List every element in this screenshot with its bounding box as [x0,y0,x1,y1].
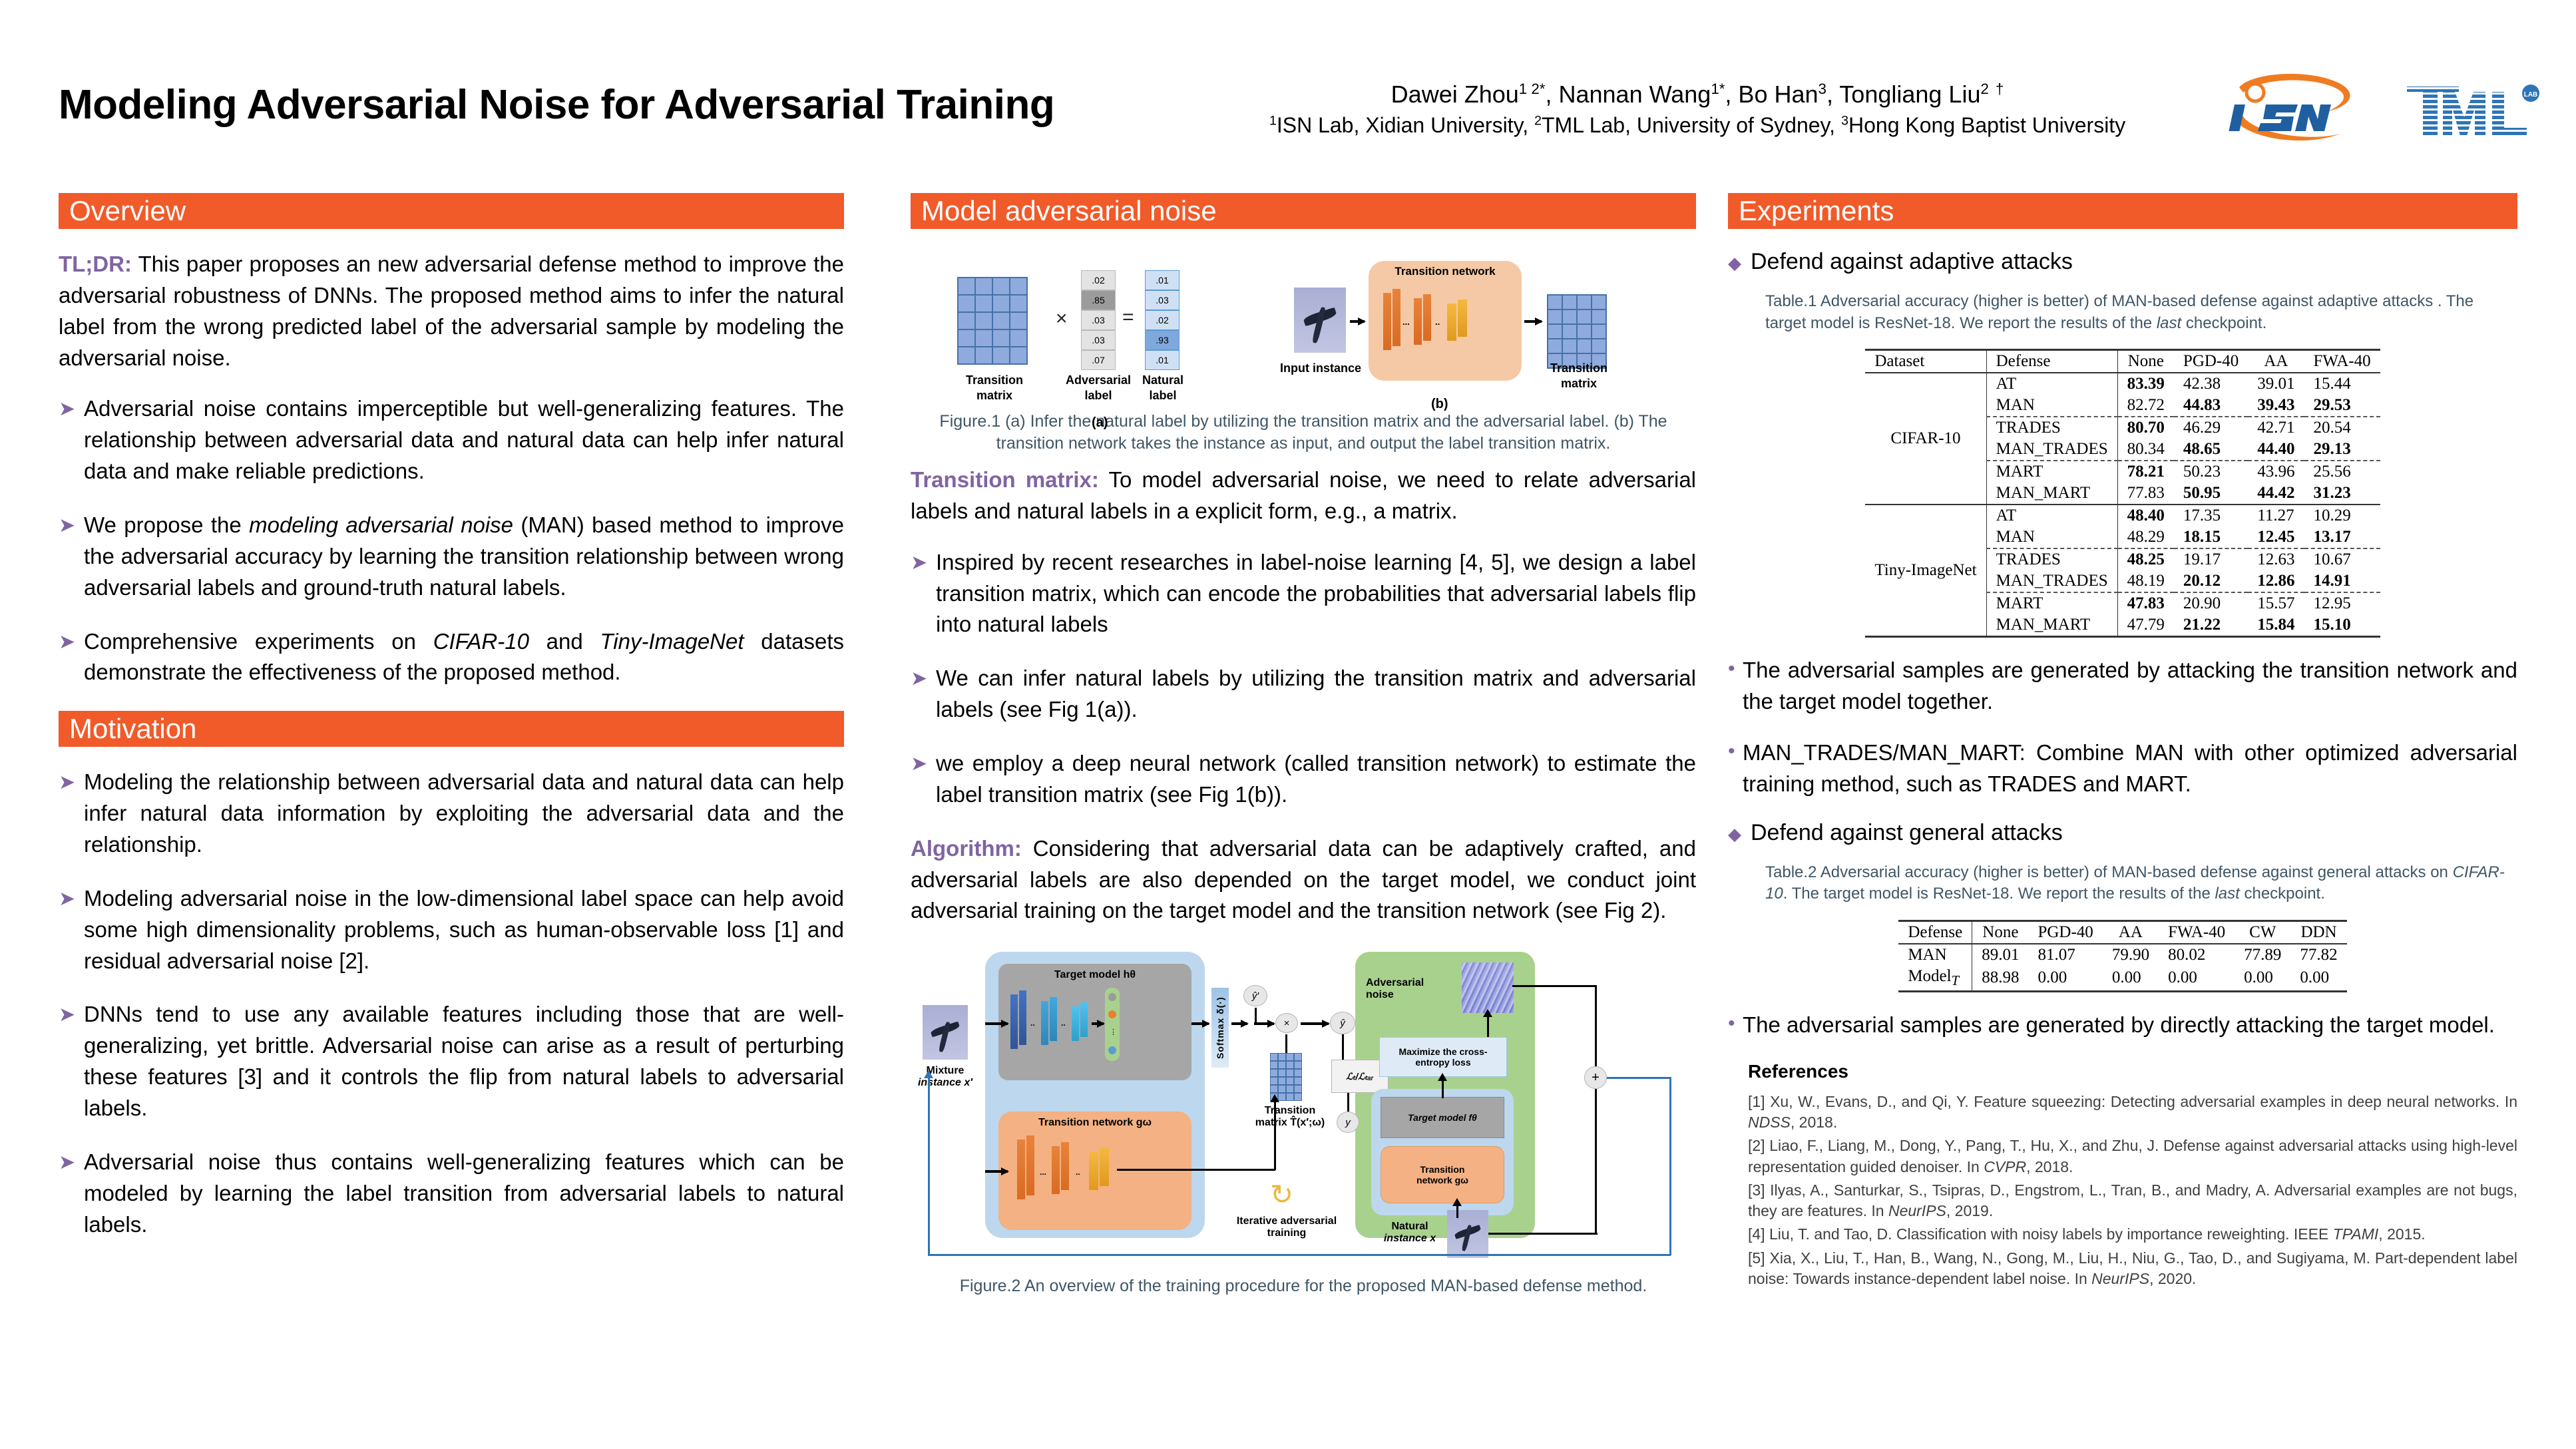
overview-bullet-1: Adversarial noise contains imperceptible… [84,393,844,487]
fig2-arrow-to-output-icon [1092,1022,1104,1025]
figure-1: × .02 .85 .03 .03 .07 = .01 .03 .02 .93 … [911,249,1696,405]
fig2-maximize-loss-box: Maximize the cross-entropy loss [1379,1037,1507,1077]
fig2-target-model-label: Target model hθ [1012,969,1178,981]
fig2-arrow-to-multiply-icon [1254,1022,1274,1025]
model-bullet-2: We can infer natural labels by utilizing… [936,663,1696,725]
note-adaptive-1: The adversarial samples are generated by… [1743,655,2517,718]
fig1-adversarial-label-vector: .02 .85 .03 .03 .07 [1081,270,1116,370]
fig1-adv-cell: .02 [1081,270,1116,290]
fig1-transition-network-title: Transition network [1370,265,1520,278]
fig2-transition-network-label: Transition network gω [1005,1117,1185,1129]
fig2-arrow-from-softmax-icon [1231,1022,1247,1025]
fig2-arrow-to-softmax-icon [1191,1022,1209,1025]
svg-text:LAB: LAB [2524,91,2538,99]
fig2-iterative-label: Iterative adversarialtraining [1223,1215,1350,1239]
overview-bullet-3: Comprehensive experiments on CIFAR-10 an… [84,626,844,689]
table-2-caption: Table.2 Adversarial accuracy (higher is … [1765,862,2517,905]
note-general-1: The adversarial samples are generated by… [1743,1010,2517,1041]
list-item: ➤ we employ a deep neural network (calle… [911,748,1696,811]
fig1-arrow-in-icon [1350,320,1365,323]
fig1-nat-cell: .02 [1145,310,1180,330]
author-block: Dawei Zhou1 2*, Nannan Wang1*, Bo Han3, … [1225,79,2170,140]
fig1-adv-cell: .03 [1081,310,1116,330]
arrow-bullet-icon: ➤ [911,547,936,641]
fig1-adv-cell: .03 [1081,330,1116,350]
fig2-softmax-bar: Softmax δ(·) [1211,988,1229,1068]
reference-item: [3] Ilyas, A., Santurkar, S., Tsipras, D… [1748,1180,2517,1222]
section-header-experiments: Experiments [1728,193,2517,229]
affiliations-line: 1ISN Lab, Xidian University, 2TML Lab, U… [1225,111,2170,140]
model-bullet-1: Inspired by recent researches in label-n… [936,547,1696,641]
t2-col-fwa40: FWA-40 [2159,921,2235,944]
table-row: MAN 89.01 81.07 79.90 80.02 77.89 77.82 [1898,944,2346,966]
tldr-text: This paper proposes an new adversarial d… [59,252,844,370]
fig1-nat-cell: .03 [1145,290,1180,310]
t1-dataset-tiny-imagenet: Tiny-ImageNet [1865,505,1986,637]
table-1-caption: Table.1 Adversarial accuracy (higher is … [1765,291,2517,334]
fig1-output-transition-matrix [1547,294,1607,369]
figure-1-caption: Figure.1 (a) Infer the natural label by … [911,411,1696,454]
list-item: ➤ DNNs tend to use any available feature… [59,999,844,1124]
fig1-nat-cell: .93 [1145,330,1180,350]
t1-col-defense: Defense [1986,350,2117,373]
fig1-output-matrix-label: Transitionmatrix [1536,361,1621,391]
fig1-input-instance-label: Input instance [1278,361,1363,376]
dot-bullet-icon: • [1728,737,1743,800]
reference-item: [4] Liu, T. and Tao, D. Classification w… [1748,1224,2517,1245]
list-item: ➤ Modeling adversarial noise in the low-… [59,883,844,977]
fig1-sublabel-b: (b) [1431,397,1448,412]
list-item: ➤ Adversarial noise contains imperceptib… [59,393,844,487]
arrow-bullet-icon: ➤ [59,767,84,861]
subheading-adaptive-attacks: ◆ Defend against adaptive attacks [1728,249,2517,275]
transition-matrix-paragraph: Transition matrix: To model adversarial … [911,465,1696,527]
t1-col-dataset: Dataset [1865,350,1986,373]
dot-bullet-icon: • [1728,1010,1743,1041]
list-item: ➤ Comprehensive experiments on CIFAR-10 … [59,626,844,689]
section-header-motivation: Motivation [59,711,844,747]
dot-bullet-icon: • [1728,655,1743,718]
arrow-bullet-icon: ➤ [59,883,84,977]
algorithm-label: Algorithm: [911,836,1022,861]
fig2-adversarial-noise-label: Adversarialnoise [1366,977,1438,1001]
isn-lab-logo [2229,70,2362,150]
fig1-label-adversarial: Adversariallabel [1061,373,1136,403]
section-header-model: Model adversarial noise [911,193,1696,229]
t2-col-cw: CW [2235,921,2290,944]
t2-col-pgd40: PGD-40 [2028,921,2102,944]
page-title: Modeling Adversarial Noise for Adversari… [59,81,1054,128]
arrow-bullet-icon: ➤ [59,393,84,487]
list-item: • The adversarial samples are generated … [1728,655,2517,718]
t2-col-defense: Defense [1898,921,1972,944]
reference-item: [5] Xia, X., Liu, T., Han, B., Wang, N.,… [1748,1248,2517,1290]
fig1-panel-b: Transition network ... .. Input instance [1270,256,1643,395]
fig2-adversarial-noise-image [1462,962,1514,1013]
fig1-adv-cell: .85 [1081,290,1116,310]
t1-col-fwa40: FWA-40 [2304,350,2380,373]
motivation-bullet-2: Modeling adversarial noise in the low-di… [84,883,844,977]
model-bullet-3: we employ a deep neural network (called … [936,748,1696,811]
motivation-bullet-1: Modeling the relationship between advers… [84,767,844,861]
list-item: ➤ Adversarial noise thus contains well-g… [59,1147,844,1241]
fig2-mixture-instance-image [923,1005,968,1060]
table-row: ModelT 88.98 0.00 0.00 0.00 0.00 0.00 [1898,966,2346,992]
fig2-node-multiply: × [1275,1013,1298,1033]
fig2-iterative-loop-icon: ↻ [1270,1181,1293,1209]
fig1-multiply-icon: × [1056,308,1068,330]
subheading-general-attacks: ◆ Defend against general attacks [1728,820,2517,846]
arrow-bullet-icon: ➤ [911,663,936,725]
t2-col-ddn: DDN [2290,921,2346,944]
list-item: ➤ Inspired by recent researches in label… [911,547,1696,641]
motivation-bullet-3: DNNs tend to use any available features … [84,999,844,1124]
t1-col-aa: AA [2248,350,2304,373]
fig1-input-instance-image [1294,288,1346,353]
algorithm-paragraph: Algorithm: Considering that adversarial … [911,833,1696,927]
fig1-label-transition-matrix: Transitionmatrix [941,373,1048,403]
t2-col-none: None [1972,921,2029,944]
list-item: • The adversarial samples are generated … [1728,1010,2517,1041]
list-item: ➤ We propose the modeling adversarial no… [59,510,844,604]
fig2-mixture-instance-label: Mixtureinstance x′ [912,1065,978,1089]
fig1-arrow-out-icon [1524,320,1542,323]
tldr-paragraph: TL;DR: This paper proposes an new advers… [59,249,844,373]
overview-bullet-2: We propose the modeling adversarial nois… [84,510,844,604]
note-adaptive-2: MAN_TRADES/MAN_MART: Combine MAN with ot… [1743,737,2517,800]
references-heading: References [1748,1061,2517,1082]
section-header-overview: Overview [59,193,844,229]
diamond-bullet-icon: ◆ [1728,249,1751,274]
arrow-bullet-icon: ➤ [59,1147,84,1241]
fig1-natural-label-vector: .01 .03 .02 .93 .01 [1145,270,1180,370]
fig2-arrow-in-top-icon [985,1022,1008,1025]
fig2-plus-node: + [1584,1066,1607,1089]
list-item: ➤ We can infer natural labels by utilizi… [911,663,1696,725]
fig2-target-model-f-box: Target model fθ [1381,1097,1504,1138]
transition-matrix-label: Transition matrix: [911,467,1099,492]
table-row: CIFAR-10 AT 83.39 42.38 39.01 15.44 [1865,373,2380,395]
fig2-transition-network-g-box: Transitionnetwork gω [1381,1146,1504,1203]
arrow-bullet-icon: ➤ [59,510,84,604]
authors-line: Dawei Zhou1 2*, Nannan Wang1*, Bo Han3, … [1225,79,2170,111]
reference-item: [1] Xu, W., Evans, D., and Qi, Y. Featur… [1748,1092,2517,1134]
table-row: Tiny-ImageNet AT 48.40 17.35 11.27 10.29 [1865,505,2380,526]
fig1-label-natural: Naturallabel [1137,373,1189,403]
reference-item: [2] Liao, F., Liang, M., Dong, Y., Pang,… [1748,1136,2517,1177]
list-item: ➤ Modeling the relationship between adve… [59,767,844,861]
t1-dataset-cifar10: CIFAR-10 [1865,373,1986,505]
fig1-equals-icon: = [1122,306,1134,329]
fig2-node-yhat-prime: ŷ′ [1243,985,1267,1006]
fig1-sublabel-a: (a) [1092,415,1108,431]
fig2-arrow-to-yhat-icon [1301,1022,1329,1025]
fig1-transition-matrix-grid [957,277,1028,365]
fig2-node-yhat: ŷ [1330,1012,1355,1034]
fig1-nat-cell: .01 [1145,270,1180,290]
t2-row-model-t: ModelT [1898,966,1972,992]
fig2-transition-matrix-label: Transitionmatrix T̂(x′;ω) [1243,1105,1337,1129]
figure-2: Target model hθ Transition network gω Mi… [911,946,1696,1266]
t2-col-aa: AA [2103,921,2159,944]
fig2-natural-instance-label: Naturalinstance x [1377,1221,1443,1245]
diamond-bullet-icon: ◆ [1728,820,1751,845]
fig2-arrow-in-bottom-icon [985,1170,1008,1173]
arrow-bullet-icon: ➤ [59,999,84,1124]
t1-col-pgd40: PGD-40 [2174,350,2248,373]
table-1: Dataset Defense None PGD-40 AA FWA-40 CI… [1865,349,2380,638]
motivation-bullet-4: Adversarial noise thus contains well-gen… [84,1147,844,1241]
fig2-natural-instance-image [1447,1210,1488,1258]
tml-lab-logo: LAB [2403,79,2543,145]
fig1-nat-cell: .01 [1145,350,1180,370]
figure-2-caption: Figure.2 An overview of the training pro… [911,1275,1696,1297]
fig1-adv-cell: .07 [1081,350,1116,370]
arrow-bullet-icon: ➤ [911,748,936,811]
arrow-bullet-icon: ➤ [59,626,84,689]
t1-col-none: None [2117,350,2174,373]
tldr-label: TL;DR: [59,252,132,276]
table-2: Defense None PGD-40 AA FWA-40 CW DDN MAN… [1898,920,2346,992]
list-item: • MAN_TRADES/MAN_MART: Combine MAN with … [1728,737,2517,800]
